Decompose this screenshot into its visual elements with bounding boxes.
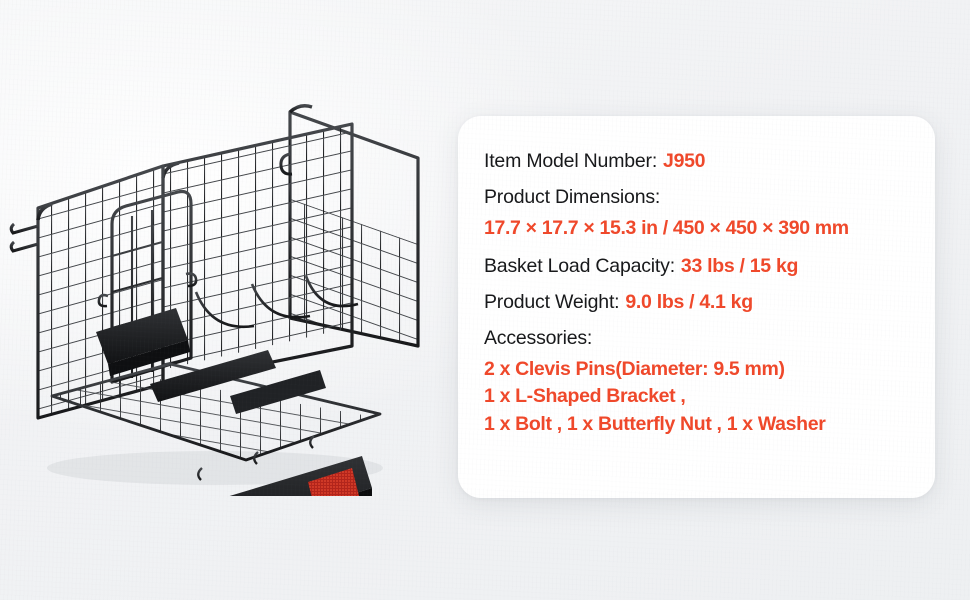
spec-label-accessories: Accessories: <box>484 327 935 350</box>
specification-card: Item Model Number: J950 Product Dimensio… <box>458 116 935 498</box>
spec-value-accessory-1: 2 x Clevis Pins(Diameter: 9.5 mm) <box>484 356 935 384</box>
spec-value-dimensions: 17.7 × 17.7 × 15.3 in / 450 × 450 × 390 … <box>484 215 935 243</box>
spec-value-accessory-3: 1 x Bolt , 1 x Butterfly Nut , 1 x Washe… <box>484 411 935 439</box>
spec-label-load-capacity: Basket Load Capacity: <box>484 255 675 278</box>
product-image-wire-basket <box>0 96 430 496</box>
spec-value-product-weight: 9.0 lbs / 4.1 kg <box>625 291 752 314</box>
spec-value-load-capacity: 33 lbs / 15 kg <box>681 255 798 278</box>
specification-list: Item Model Number: J950 Product Dimensio… <box>484 150 935 439</box>
spec-label-model-number: Item Model Number: <box>484 150 657 173</box>
spec-label-product-weight: Product Weight: <box>484 291 619 314</box>
spec-value-accessory-2: 1 x L-Shaped Bracket , <box>484 383 935 411</box>
spec-row-dimensions: Product Dimensions: 17.7 × 17.7 × 15.3 i… <box>484 186 935 243</box>
spec-row-product-weight: Product Weight: 9.0 lbs / 4.1 kg <box>484 291 935 314</box>
spec-value-model-number: J950 <box>663 150 705 173</box>
spec-label-dimensions: Product Dimensions: <box>484 186 935 209</box>
product-spec-banner: Item Model Number: J950 Product Dimensio… <box>0 0 970 600</box>
spec-row-load-capacity: Basket Load Capacity: 33 lbs / 15 kg <box>484 255 935 278</box>
spec-row-model-number: Item Model Number: J950 <box>484 150 935 173</box>
spec-row-accessories: Accessories: 2 x Clevis Pins(Diameter: 9… <box>484 327 935 439</box>
